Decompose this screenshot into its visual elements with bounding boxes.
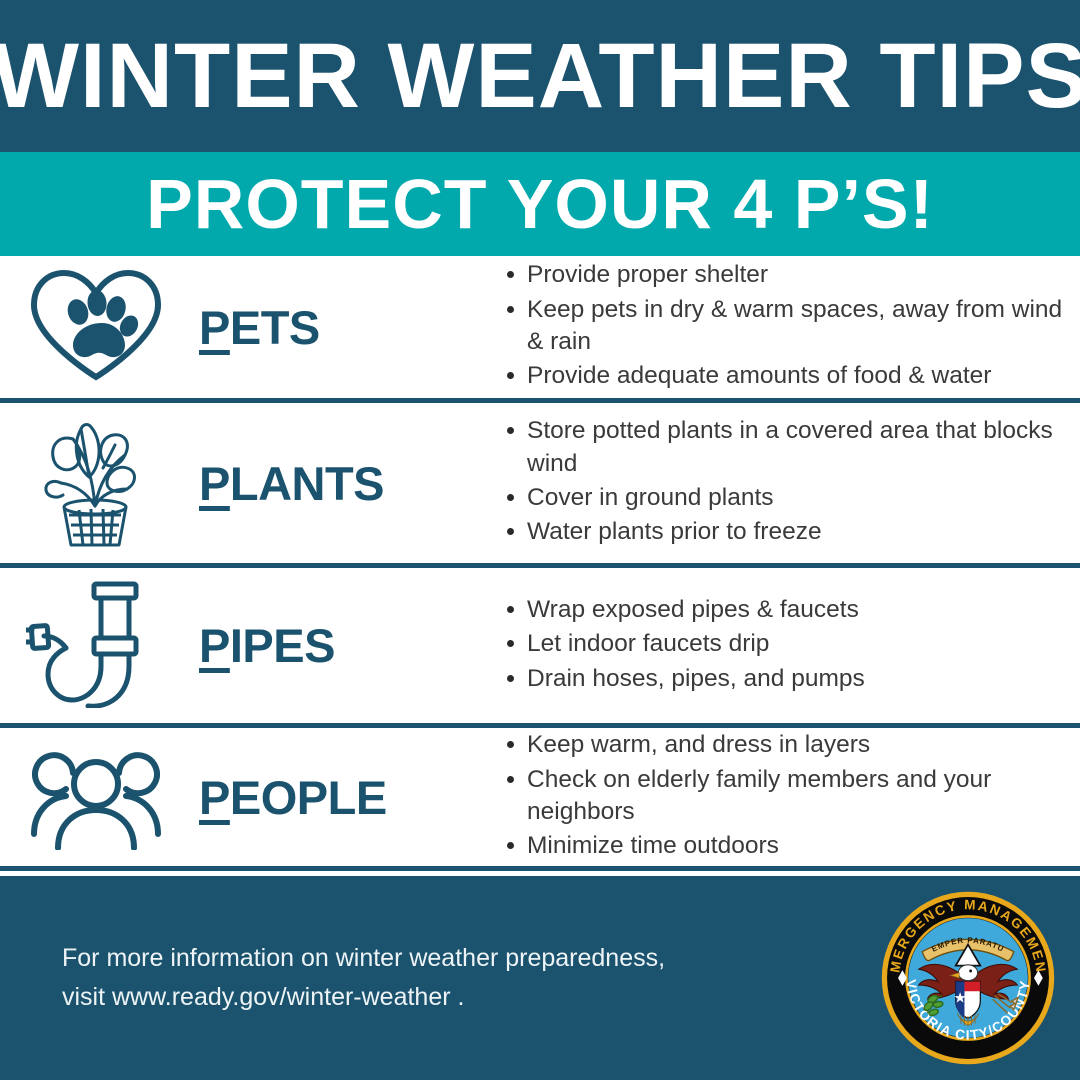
icon-cell-plants [0, 411, 185, 556]
list-item: Minimize time outdoors [507, 830, 1074, 862]
section-heading-people: PEOPLE [199, 774, 387, 821]
page-title: WINTER WEATHER TIPS [0, 30, 1080, 122]
footer-band: For more information on winter weather p… [0, 876, 1080, 1080]
heading-first-letter: P [199, 301, 230, 354]
list-item: Let indoor faucets drip [507, 628, 1074, 660]
list-item: Provide proper shelter [507, 259, 1074, 291]
label-cell-pets: PETS [185, 304, 470, 351]
icon-cell-people [0, 740, 185, 855]
bullets-cell-pipes: Wrap exposed pipes & faucets Let indoor … [470, 594, 1080, 697]
section-heading-pipes: PIPES [199, 622, 335, 669]
heading-first-letter: P [199, 771, 230, 824]
winter-weather-tips-poster: WINTER WEATHER TIPS PROTECT YOUR 4 P’S! [0, 0, 1080, 1080]
label-cell-people: PEOPLE [185, 774, 470, 821]
tips-list-people: Keep warm, and dress in layers Check on … [470, 729, 1074, 862]
bullets-cell-plants: Store potted plants in a covered area th… [470, 415, 1080, 550]
list-item: Cover in ground plants [507, 482, 1074, 514]
section-people: PEOPLE Keep warm, and dress in layers Ch… [0, 728, 1080, 871]
title-band: WINTER WEATHER TIPS [0, 0, 1080, 152]
label-cell-plants: PLANTS [185, 460, 470, 507]
icon-cell-pets [0, 265, 185, 390]
heading-first-letter: P [199, 457, 230, 510]
heading-rest: IPES [230, 619, 335, 672]
section-pets: PETS Provide proper shelter Keep pets in… [0, 256, 1080, 403]
label-cell-pipes: PIPES [185, 622, 470, 669]
emergency-management-seal: EMERGENCY MANAGEMENT VICTORIA CITY/COUNT… [880, 890, 1056, 1066]
heading-first-letter: P [199, 619, 230, 672]
heading-rest: EOPLE [230, 771, 387, 824]
bullets-cell-pets: Provide proper shelter Keep pets in dry … [470, 259, 1080, 394]
pipe-icon [26, 578, 166, 713]
list-item: Drain hoses, pipes, and pumps [507, 663, 1074, 695]
section-pipes: PIPES Wrap exposed pipes & faucets Let i… [0, 568, 1080, 728]
section-plants: PLANTS Store potted plants in a covered … [0, 403, 1080, 568]
footer-info-text: For more information on winter weather p… [0, 939, 665, 1017]
tips-list-pets: Provide proper shelter Keep pets in dry … [470, 259, 1074, 392]
list-item: Wrap exposed pipes & faucets [507, 594, 1074, 626]
tips-list-pipes: Wrap exposed pipes & faucets Let indoor … [470, 594, 1074, 695]
list-item: Keep warm, and dress in layers [507, 729, 1074, 761]
heading-rest: LANTS [230, 457, 384, 510]
list-item: Store potted plants in a covered area th… [507, 415, 1074, 480]
potted-plant-icon [33, 411, 158, 556]
footer-line-2: visit www.ready.gov/winter-weather . [62, 978, 665, 1017]
list-item: Provide adequate amounts of food & water [507, 360, 1074, 392]
list-item: Check on elderly family members and your… [507, 764, 1074, 829]
page-subtitle: PROTECT YOUR 4 P’S! [146, 169, 934, 239]
section-heading-pets: PETS [199, 304, 320, 351]
heading-rest: ETS [230, 301, 320, 354]
people-group-icon [26, 740, 166, 855]
list-item: Keep pets in dry & warm spaces, away fro… [507, 294, 1074, 359]
bullets-cell-people: Keep warm, and dress in layers Check on … [470, 729, 1080, 864]
footer-line-1: For more information on winter weather p… [62, 939, 665, 978]
subtitle-band: PROTECT YOUR 4 P’S! [0, 152, 1080, 256]
tips-sections: PETS Provide proper shelter Keep pets in… [0, 256, 1080, 871]
tips-list-plants: Store potted plants in a covered area th… [470, 415, 1074, 548]
section-heading-plants: PLANTS [199, 460, 384, 507]
icon-cell-pipes [0, 578, 185, 713]
list-item: Water plants prior to freeze [507, 516, 1074, 548]
heart-paw-icon [26, 265, 166, 390]
